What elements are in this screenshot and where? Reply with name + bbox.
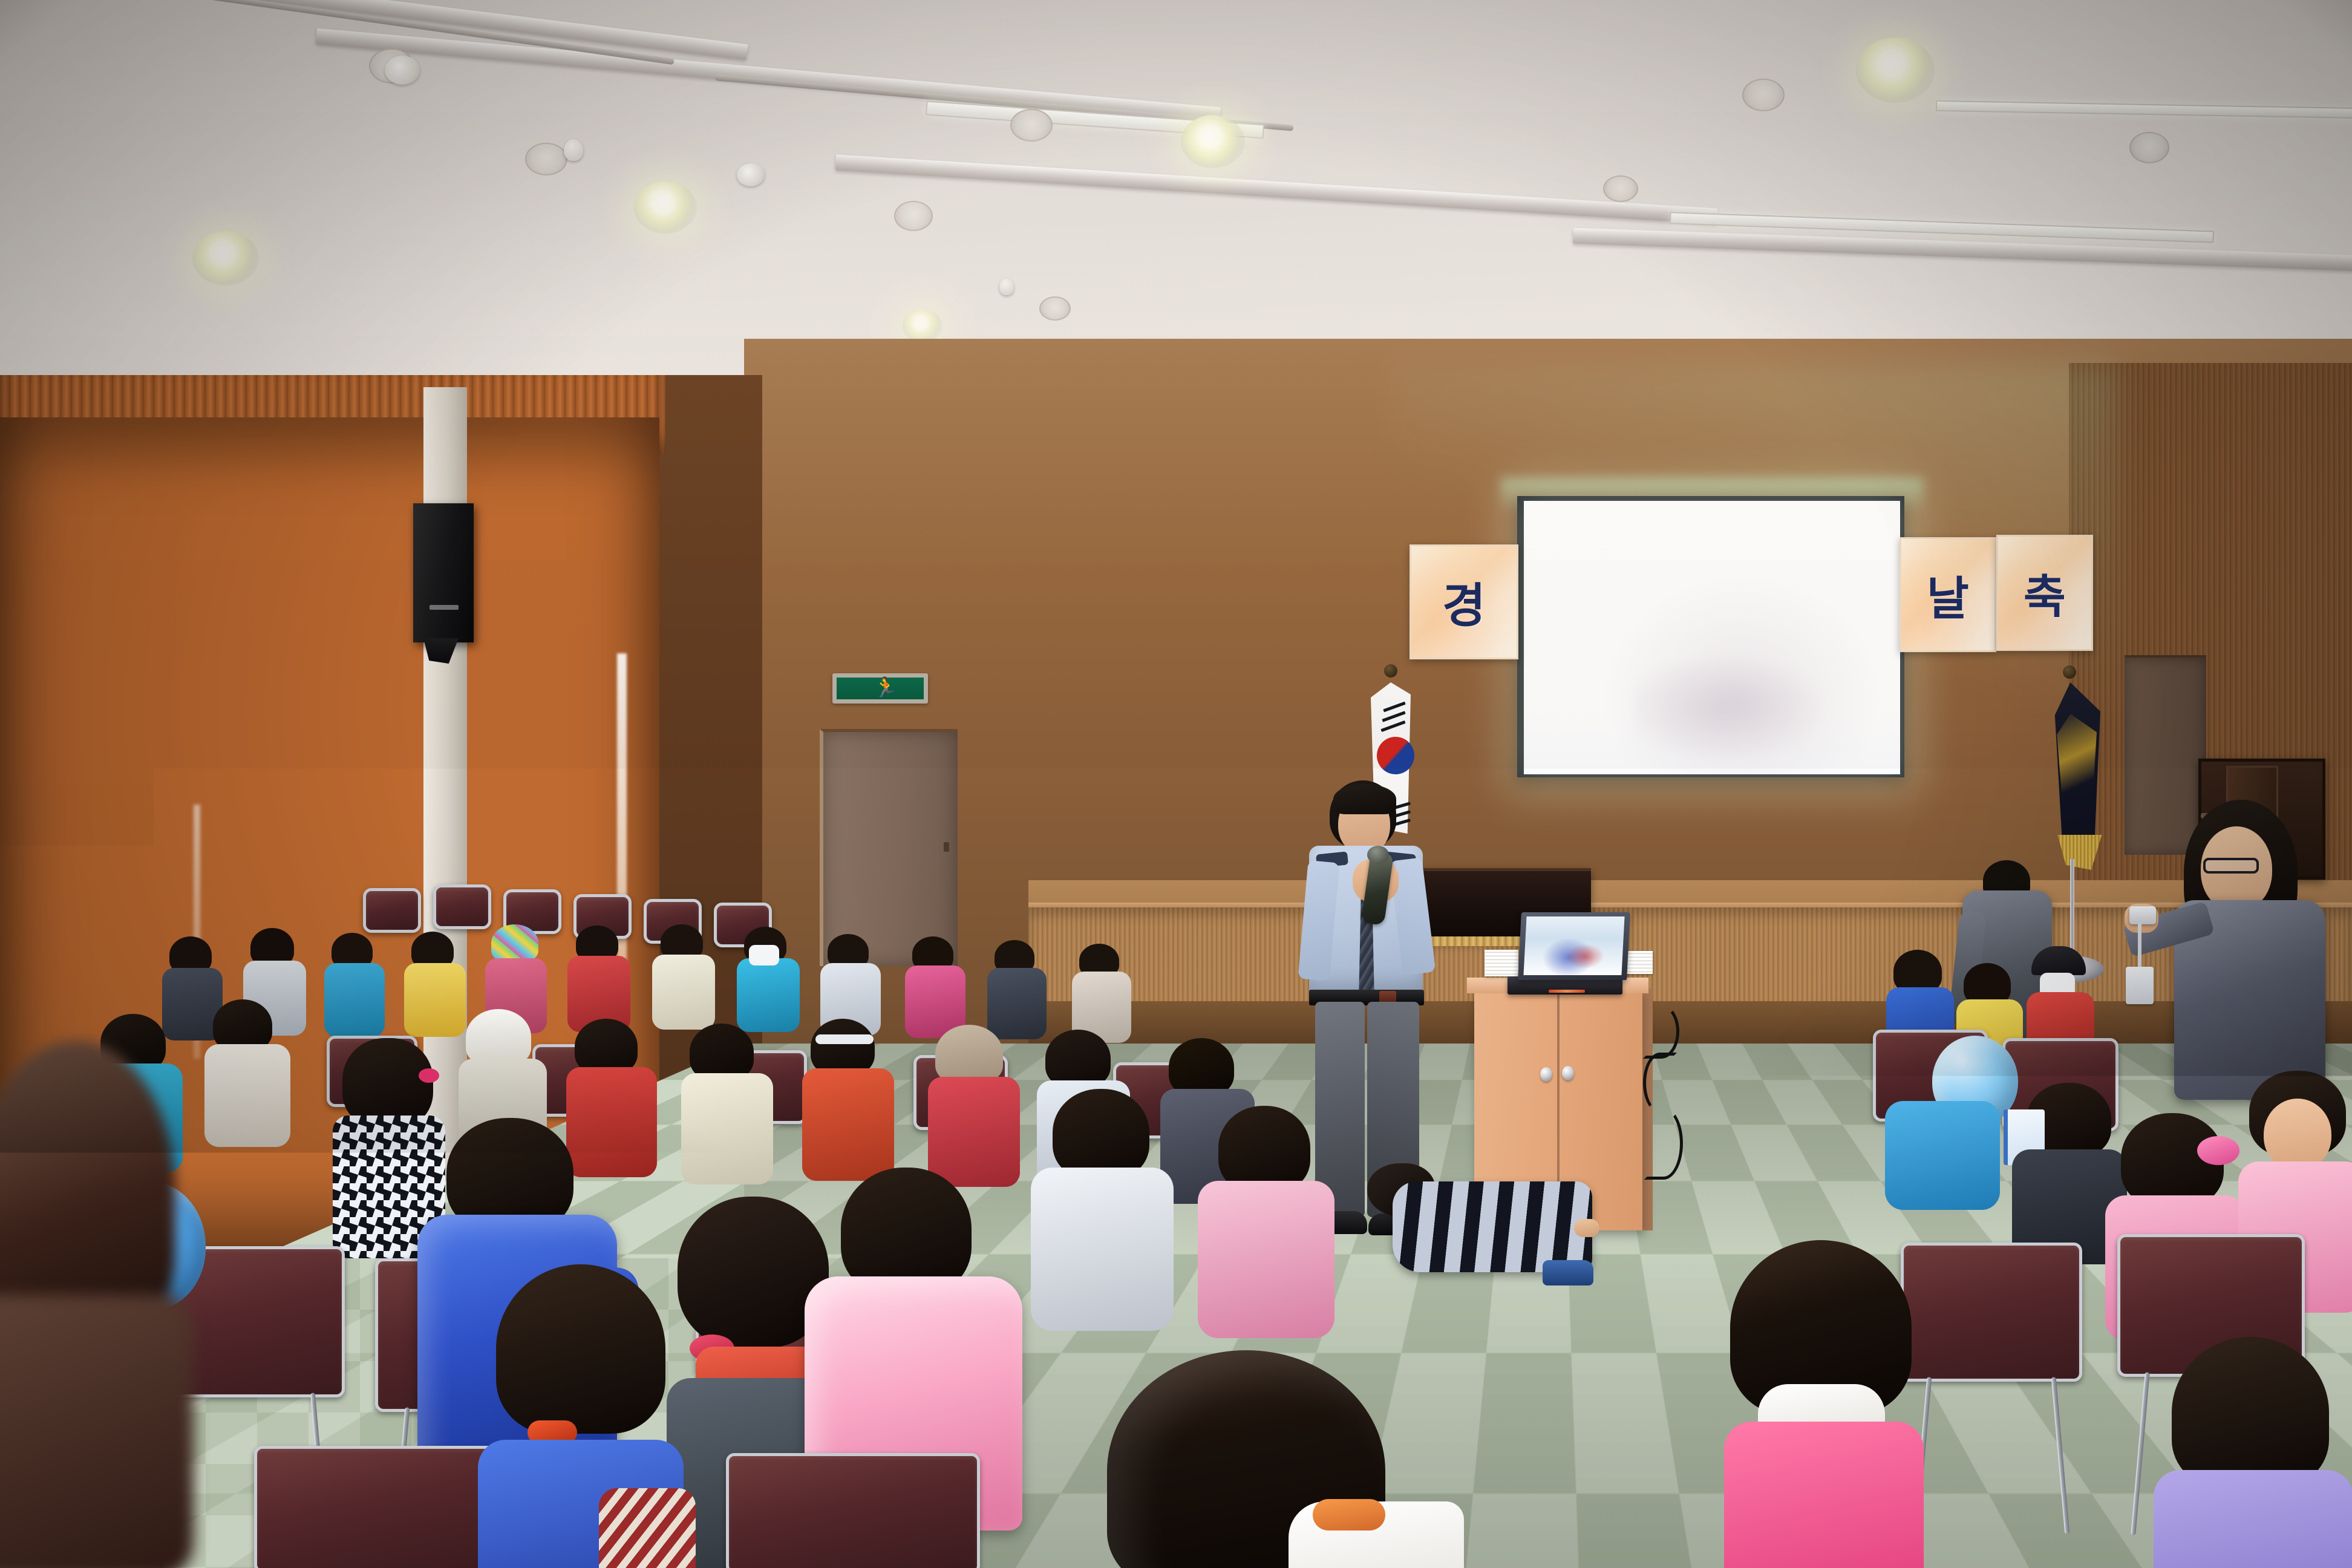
child-coat [1198, 1181, 1334, 1338]
blurred-shoulder [0, 1295, 194, 1568]
banner-panel-right-outer: 축 [1996, 535, 2093, 651]
eyeglasses [2203, 858, 2259, 874]
laptop-indicator-lights [1549, 990, 1585, 993]
projected-image-faint [1633, 653, 1833, 762]
child-coat [404, 963, 466, 1037]
child-coat [566, 1067, 657, 1177]
lanyard-strap [2138, 923, 2141, 969]
orange-trim [1313, 1499, 1385, 1530]
laptop-screen [1523, 916, 1624, 975]
microphone-head [1367, 846, 1389, 864]
door-knob[interactable] [944, 842, 949, 852]
child-coat [802, 1068, 894, 1181]
banner-char: 경 [1442, 568, 1486, 636]
hair-bow [2197, 1136, 2239, 1165]
child-hand [1574, 1219, 1599, 1237]
child-hair [496, 1264, 665, 1434]
downlight [1856, 38, 1935, 103]
banner-panel-right-inner: 날 [1900, 537, 1996, 652]
knit-hat-beige [935, 1025, 1003, 1083]
lanyard-card [2126, 967, 2154, 1004]
presenter-bangs [1333, 784, 1396, 814]
ceiling-beam [0, 0, 748, 60]
auditorium-photo: 🏃 emergency-exit 경 날 축 [0, 0, 2352, 1568]
flag-finial [2063, 665, 2076, 679]
downlight [634, 181, 697, 234]
child-coat [928, 1077, 1020, 1187]
curtain-light-gap [617, 653, 627, 992]
power-cable [1643, 1053, 1677, 1113]
banner-char: 축 [2024, 560, 2066, 626]
recessed-downlight-off [2129, 132, 2169, 163]
running-figure-icon: 🏃 [874, 678, 892, 699]
hair-band [815, 1034, 874, 1044]
child-hair [1053, 1089, 1149, 1180]
power-cable [1644, 1107, 1683, 1180]
recessed-downlight-off [1603, 175, 1638, 202]
recessed-downlight-off [1742, 79, 1785, 111]
adult-with-camera-right [2111, 800, 2352, 1114]
recessed-downlight-off [525, 143, 567, 175]
smoke-detector [737, 163, 765, 186]
striped-jacket [1393, 1181, 1592, 1272]
banner-char: 날 [1927, 561, 1969, 628]
child-coat [737, 958, 800, 1032]
child-hair [1218, 1106, 1310, 1193]
downlight [192, 231, 259, 286]
child-hair [1045, 1030, 1111, 1088]
child-coat [1885, 1101, 2000, 1210]
child-coat [1031, 1168, 1174, 1331]
child-coat [204, 1044, 290, 1147]
camera-device[interactable] [2129, 906, 2156, 924]
downlight [903, 310, 942, 342]
child-lying-on-floor [1361, 1152, 1615, 1285]
flag-finial [1384, 664, 1397, 678]
side-door[interactable] [820, 729, 958, 966]
ceiling-beam [835, 154, 1718, 224]
troffer-light [1936, 100, 2352, 119]
child-hair [690, 1024, 754, 1080]
ceiling-beam [1573, 228, 2352, 272]
child-hair [2172, 1337, 2329, 1488]
child-face [2264, 1099, 2331, 1170]
podium-knob-left[interactable] [1540, 1067, 1552, 1082]
loudspeaker-logo [430, 605, 459, 610]
hair-bow [419, 1068, 439, 1083]
sprinkler-head [564, 139, 583, 161]
face-mask [749, 945, 779, 965]
loudspeaker [413, 503, 474, 642]
child-coat [652, 955, 715, 1030]
child-boot [1543, 1260, 1593, 1285]
pink-jacket [1724, 1422, 1924, 1568]
child-hair [811, 1019, 875, 1076]
child-coat [324, 963, 385, 1037]
recessed-downlight-off [894, 201, 933, 231]
knit-hat [491, 924, 538, 962]
podium-knob-right[interactable] [1562, 1066, 1574, 1080]
smoke-detector [385, 56, 420, 85]
downlight [1181, 115, 1245, 168]
red-scarf [599, 1488, 696, 1568]
child-coat [2154, 1470, 2352, 1568]
sprinkler-head [999, 278, 1014, 295]
child-hair [1169, 1038, 1234, 1096]
child-hair [575, 1019, 638, 1074]
paper-stack-left [1485, 950, 1518, 976]
knit-hat-white [466, 1009, 531, 1065]
child-coat [681, 1073, 773, 1184]
power-cable [1643, 1004, 1679, 1059]
recessed-downlight-off [1039, 296, 1071, 321]
child-coat [987, 968, 1047, 1039]
banner-panel-left: 경 [1410, 544, 1518, 659]
recessed-downlight-off [1010, 109, 1053, 142]
